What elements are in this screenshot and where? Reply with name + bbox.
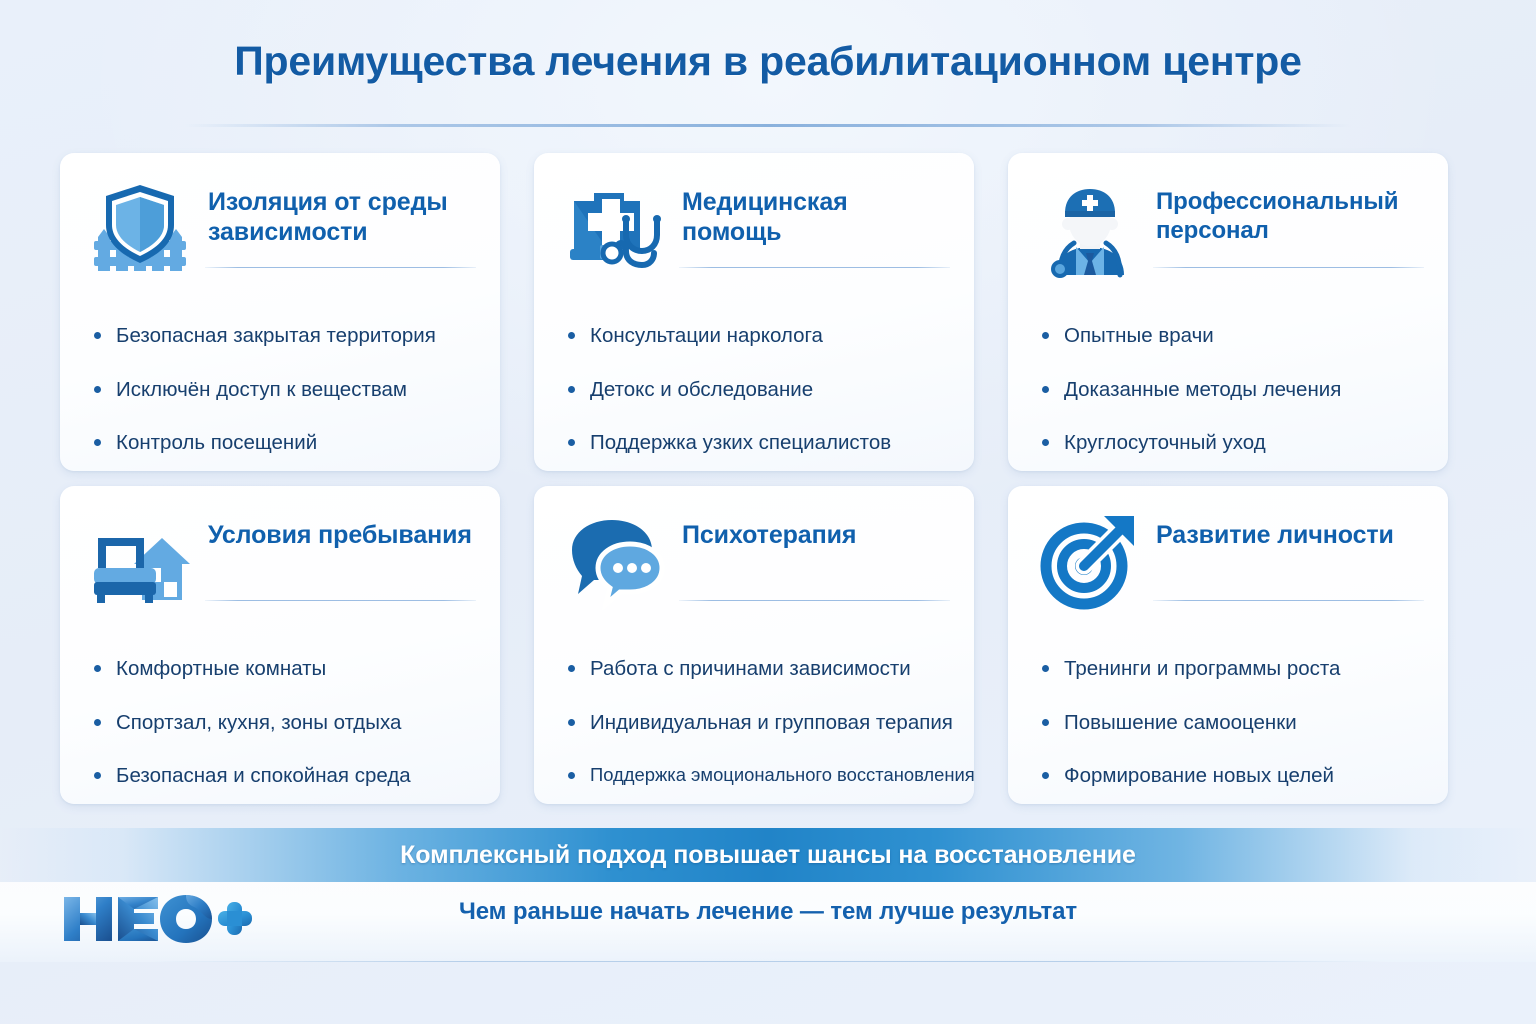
speech-bubbles-icon bbox=[564, 512, 668, 612]
card-medical-help[interactable]: Медицинская помощь Консультации нарколог… bbox=[534, 153, 974, 471]
list-item: Поддержка узких специалистов bbox=[564, 430, 946, 456]
card-title: Профессиональный персонал bbox=[1156, 179, 1420, 245]
brand-logo[interactable]: НЕО+ bbox=[62, 889, 252, 947]
list-item: Безопасная закрытая территория bbox=[90, 323, 472, 349]
page-title: Преимущества лечения в реабилитационном … bbox=[0, 38, 1536, 85]
list-item: Круглосуточный уход bbox=[1038, 430, 1420, 456]
list-item: Комфортные комнаты bbox=[90, 656, 472, 682]
list-item: Поддержка эмоционального восстановления bbox=[564, 763, 946, 786]
list-item: Исключён доступ к веществам bbox=[90, 377, 472, 403]
page-title-wrap: Преимущества лечения в реабилитационном … bbox=[0, 38, 1536, 85]
benefits-grid: Изоляция от среды зависимости Безопасная… bbox=[60, 153, 1476, 804]
card-living-conditions[interactable]: Условия пребывания Комфортные комнаты Сп… bbox=[60, 486, 500, 804]
card-header: Психотерапия bbox=[564, 512, 946, 612]
card-title: Изоляция от среды зависимости bbox=[208, 179, 472, 248]
list-item: Индивидуальная и групповая терапия bbox=[564, 710, 946, 736]
card-bullet-list: Комфортные комнаты Спортзал, кухня, зоны… bbox=[90, 656, 472, 789]
card-psychotherapy[interactable]: Психотерапия Работа с причинами зависимо… bbox=[534, 486, 974, 804]
card-bullet-list: Работа с причинами зависимости Индивидуа… bbox=[564, 656, 946, 786]
card-bullet-list: Консультации нарколога Детокс и обследов… bbox=[564, 323, 946, 456]
infographic-page: Преимущества лечения в реабилитационном … bbox=[0, 0, 1536, 1024]
card-title: Развитие личности bbox=[1156, 512, 1394, 551]
list-item: Повышение самооценки bbox=[1038, 710, 1420, 736]
list-item: Спортзал, кухня, зоны отдыха bbox=[90, 710, 472, 736]
medical-kit-stethoscope-icon bbox=[564, 179, 668, 279]
list-item: Консультации нарколога bbox=[564, 323, 946, 349]
card-header: Условия пребывания bbox=[90, 512, 472, 612]
card-bullet-list: Тренинги и программы роста Повышение сам… bbox=[1038, 656, 1420, 789]
card-title: Психотерапия bbox=[682, 512, 856, 551]
card-header: Развитие личности bbox=[1038, 512, 1420, 612]
card-header: Профессиональный персонал bbox=[1038, 179, 1420, 279]
card-header: Медицинская помощь bbox=[564, 179, 946, 279]
list-item: Детокс и обследование bbox=[564, 377, 946, 403]
card-divider bbox=[1153, 267, 1424, 268]
doctor-icon bbox=[1038, 179, 1142, 279]
card-divider bbox=[679, 267, 950, 268]
shield-fence-icon bbox=[90, 179, 194, 279]
list-item: Работа с причинами зависимости bbox=[564, 656, 946, 682]
list-item: Тренинги и программы роста bbox=[1038, 656, 1420, 682]
bed-house-icon bbox=[90, 512, 194, 612]
card-header: Изоляция от среды зависимости bbox=[90, 179, 472, 279]
card-personal-growth[interactable]: Развитие личности Тренинги и программы р… bbox=[1008, 486, 1448, 804]
title-divider bbox=[185, 124, 1351, 127]
card-isolation[interactable]: Изоляция от среды зависимости Безопасная… bbox=[60, 153, 500, 471]
card-bullet-list: Опытные врачи Доказанные методы лечения … bbox=[1038, 323, 1420, 456]
footer-banner: Комплексный подход повышает шансы на вос… bbox=[0, 828, 1536, 882]
card-divider bbox=[679, 600, 950, 601]
list-item: Опытные врачи bbox=[1038, 323, 1420, 349]
card-divider bbox=[205, 267, 476, 268]
card-divider bbox=[205, 600, 476, 601]
card-title: Медицинская помощь bbox=[682, 179, 946, 248]
list-item: Доказанные методы лечения bbox=[1038, 377, 1420, 403]
list-item: Формирование новых целей bbox=[1038, 763, 1420, 789]
card-professional-staff[interactable]: Профессиональный персонал Опытные врачи … bbox=[1008, 153, 1448, 471]
list-item: Контроль посещений bbox=[90, 430, 472, 456]
target-arrow-icon bbox=[1038, 512, 1142, 612]
footer-banner-text: Комплексный подход повышает шансы на вос… bbox=[400, 841, 1136, 870]
card-bullet-list: Безопасная закрытая территория Исключён … bbox=[90, 323, 472, 456]
card-title: Условия пребывания bbox=[208, 512, 472, 551]
list-item: Безопасная и спокойная среда bbox=[90, 763, 472, 789]
card-divider bbox=[1153, 600, 1424, 601]
